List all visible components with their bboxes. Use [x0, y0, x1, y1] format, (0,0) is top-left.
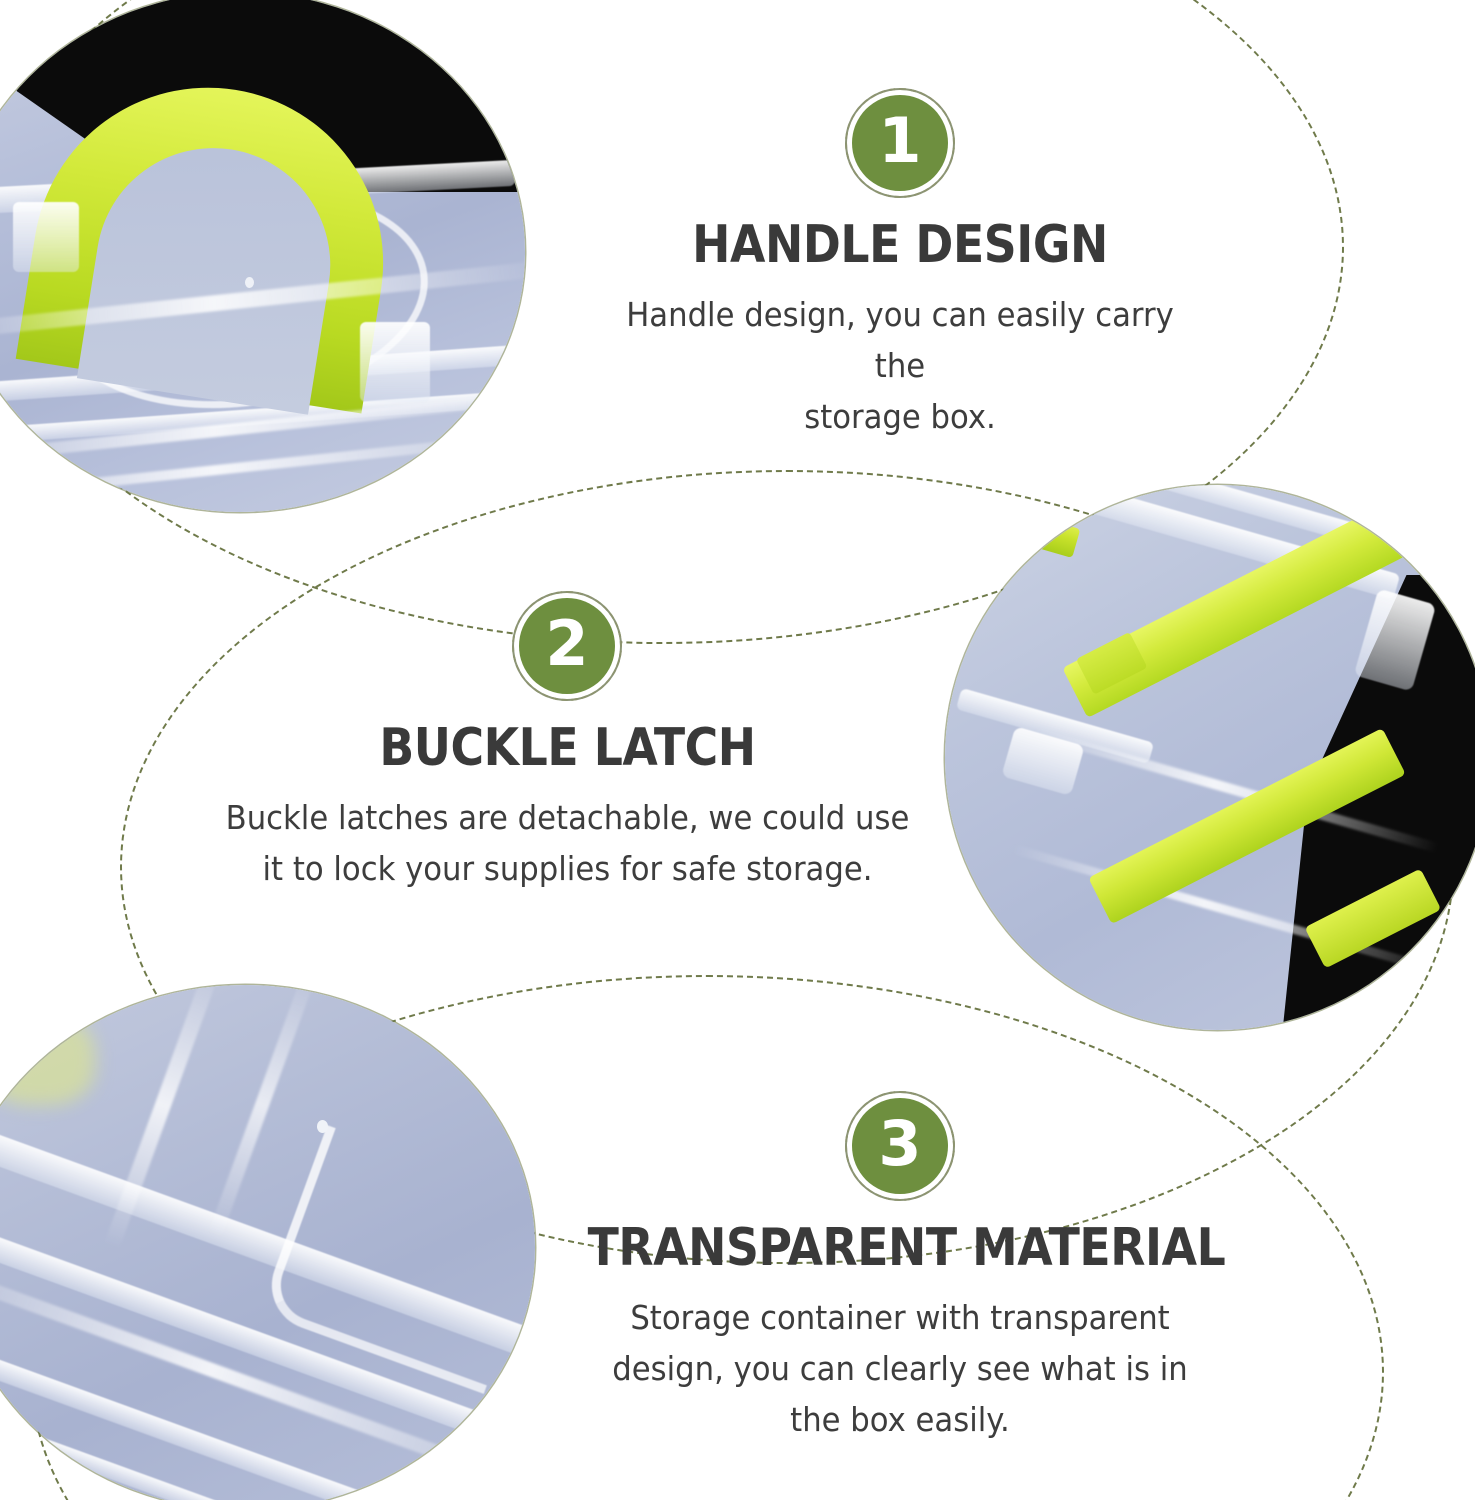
feature-body-2-line-1: Buckle latches are detachable, we could … [179, 792, 956, 843]
feature-heading-2: BUCKLE LATCH [200, 718, 935, 778]
feature-photo-transparent [0, 985, 535, 1500]
feature-heading-3: TRANSPARENT MATERIAL [588, 1218, 1213, 1278]
buckle-photo-scene [945, 485, 1475, 1030]
transparent-photo-scene [0, 985, 535, 1500]
feature-text-3: TRANSPARENT MATERIAL Storage container w… [545, 1218, 1255, 1445]
feature-body-2-line-2: it to lock your supplies for safe storag… [179, 843, 956, 894]
feature-photo-buckle [945, 485, 1475, 1030]
feature-text-2: BUCKLE LATCH Buckle latches are detachab… [150, 718, 985, 894]
badge-number-3: 3 [878, 1113, 921, 1175]
feature-body-1-line-1: Handle design, you can easily carry the [607, 289, 1193, 391]
feature-badge-3: 3 [852, 1098, 948, 1194]
badge-number-2: 2 [545, 613, 588, 675]
badge-number-1: 1 [878, 110, 921, 172]
feature-text-1: HANDLE DESIGN Handle design, you can eas… [585, 215, 1215, 442]
feature-body-3-line-1: Storage container with transparent [570, 1292, 1230, 1343]
feature-heading-1: HANDLE DESIGN [623, 215, 1177, 275]
feature-photo-handle [0, 0, 525, 512]
feature-body-3-line-3: the box easily. [570, 1394, 1230, 1445]
feature-body-3-line-2: design, you can clearly see what is in [570, 1343, 1230, 1394]
feature-badge-2: 2 [519, 598, 615, 694]
feature-body-1-line-2: storage box. [607, 391, 1193, 442]
feature-badge-1: 1 [852, 95, 948, 191]
infographic-canvas: 1 HANDLE DESIGN Handle design, you can e… [0, 0, 1475, 1500]
handle-photo-scene [0, 0, 525, 512]
